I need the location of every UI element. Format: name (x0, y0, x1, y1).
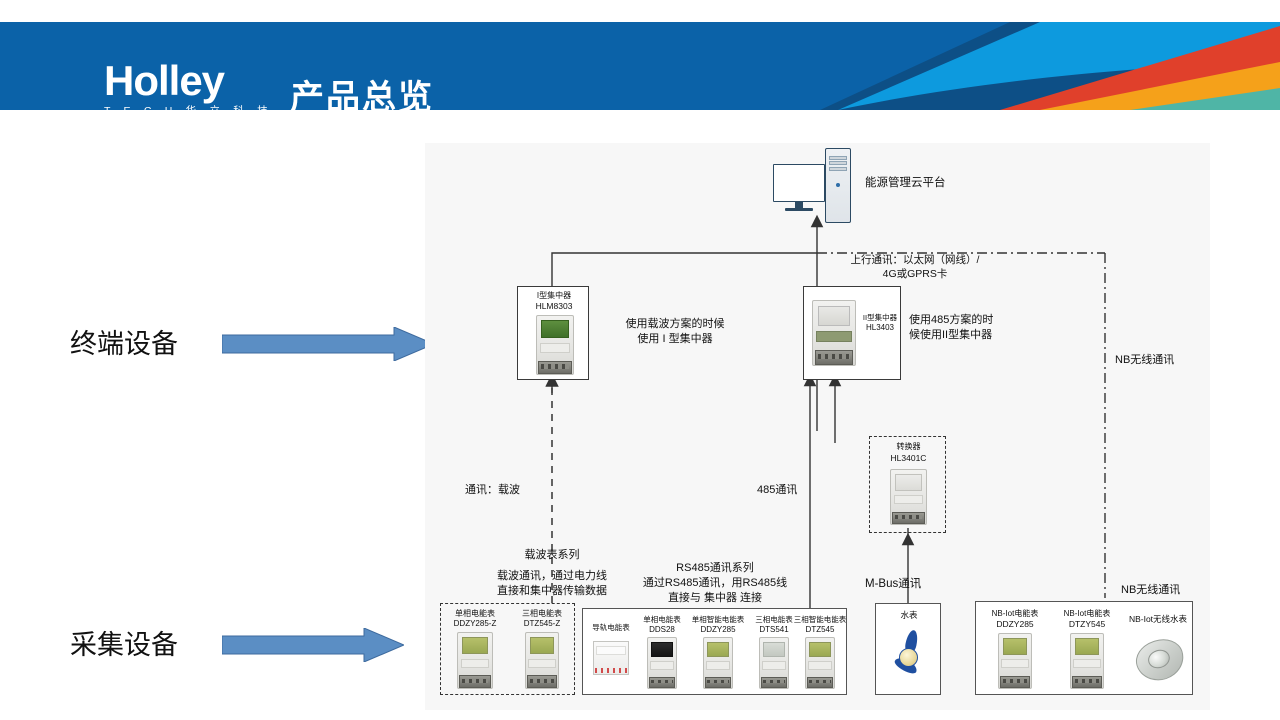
mbus-device-0-name: 水表 (876, 610, 942, 621)
link-label-nb-right: NB无线通讯 (1115, 353, 1174, 368)
logo-wordmark: Holley (104, 62, 274, 100)
concentrator-type2-icon (812, 300, 856, 366)
nbiot-three-phase-meter-icon (1070, 633, 1104, 689)
nbiot-device-1-model: DTZY545 (1052, 619, 1122, 630)
three-phase-meter-icon (759, 637, 789, 689)
desktop-computer-icon (773, 148, 851, 223)
rs485-group-desc-l2: 直接与 集中器 连接 (585, 591, 845, 606)
nbiot-device-group[interactable]: NB-Iot电能表 DDZY285 NB-Iot电能表 DTZY545 NB-I… (975, 601, 1193, 695)
carrier-device-1-model: DTZ545-Z (511, 619, 573, 630)
link-label-mbus: M-Bus通讯 (865, 577, 921, 593)
smart-single-phase-meter-icon (703, 637, 733, 689)
water-meter-icon (890, 630, 930, 682)
nbiot-wireless-water-meter-icon (1136, 640, 1184, 680)
rs485-device-1-model: DDS28 (635, 625, 689, 636)
concentrator-type2-model: HL3403 (858, 323, 902, 334)
concentrator-type2-note-l2: 候使用II型集中器 (909, 328, 1059, 343)
carrier-device-group[interactable]: 单相电能表 DDZY285-Z 三相电能表 DTZ545-Z (440, 603, 575, 695)
rs485-device-0-name: 导轨电能表 (585, 623, 637, 633)
page-title: 产品总览 (290, 70, 434, 110)
uplink-line-2: 4G或GPRS卡 (883, 268, 948, 280)
rs485-group-title: RS485通讯系列 (585, 561, 845, 576)
concentrator-type1-note-l2: 使用 I 型集中器 (600, 332, 750, 347)
link-label-nb-bottom: NB无线通讯 (1121, 583, 1180, 598)
page-header: Holley T E C H 华 立 科 技 产品总览 (0, 22, 1280, 110)
rs485-device-1-name: 单相电能表 (635, 615, 689, 625)
nbiot-device-2-name: NB-Iot无线水表 (1122, 614, 1194, 625)
uplink-line-1: 上行通讯：以太网（网线）/ (851, 254, 980, 266)
concentrator-type2-box[interactable]: II型集中器 HL3403 (803, 286, 901, 380)
rs485-group-desc-l1: 通过RS485通讯，用RS485线 (585, 576, 845, 591)
logo-tagline: T E C H 华 立 科 技 (104, 103, 274, 110)
link-label-carrier: 通讯：载波 (465, 483, 520, 498)
three-phase-meter-icon (525, 632, 559, 689)
single-phase-meter-icon (647, 637, 677, 689)
holley-logo: Holley T E C H 华 立 科 技 (104, 62, 274, 110)
uplink-note-line2: 4G或GPRS卡 (825, 267, 1005, 281)
converter-model: HL3401C (870, 453, 947, 464)
architecture-diagram: 能源管理云平台 上行通讯：以太网（网线）/ 4G或GPRS卡 I型集中器 HLM… (425, 143, 1210, 710)
concentrator-type1-model: HLM8303 (518, 301, 590, 312)
mbus-device-group[interactable]: 水表 (875, 603, 941, 695)
converter-icon (890, 469, 927, 525)
rs485-device-group[interactable]: 导轨电能表 单相电能表 DDS28 单相智能电能表 DDZY285 三相电能表 … (582, 608, 847, 695)
din-rail-meter-icon (593, 641, 629, 675)
carrier-device-0-model: DDZY285-Z (445, 619, 505, 630)
right-arrow-collection (222, 628, 404, 662)
rs485-device-2-name: 单相智能电能表 (687, 615, 749, 625)
nbiot-device-0-model: DDZY285 (980, 619, 1050, 630)
concentrator-type1-box[interactable]: I型集中器 HLM8303 (517, 286, 589, 380)
link-label-rs485: 485通讯 (757, 483, 797, 498)
cloud-platform-label: 能源管理云平台 (865, 176, 946, 192)
concentrator-type1-note-l1: 使用载波方案的时候 (600, 317, 750, 332)
section-label-collection: 采集设备 (70, 623, 178, 662)
concentrator-type2-title: II型集中器 (858, 313, 902, 323)
right-arrow-terminal (222, 327, 434, 361)
converter-title: 转换器 (870, 442, 947, 453)
uplink-note-line1: 上行通讯：以太网（网线）/ (825, 253, 1005, 267)
converter-box[interactable]: 转换器 HL3401C (869, 436, 946, 533)
single-phase-meter-icon (457, 632, 493, 689)
nbiot-single-phase-meter-icon (998, 633, 1032, 689)
concentrator-type2-note-l1: 使用485方案的时 (909, 313, 1059, 328)
smart-three-phase-meter-icon (805, 637, 835, 689)
concentrator-type1-icon (536, 315, 574, 375)
section-label-terminal: 终端设备 (70, 322, 178, 361)
rs485-device-4-name: 三相智能电能表 (793, 615, 847, 625)
rs485-device-4-model: DTZ545 (793, 625, 847, 636)
rs485-device-2-model: DDZY285 (687, 625, 749, 636)
